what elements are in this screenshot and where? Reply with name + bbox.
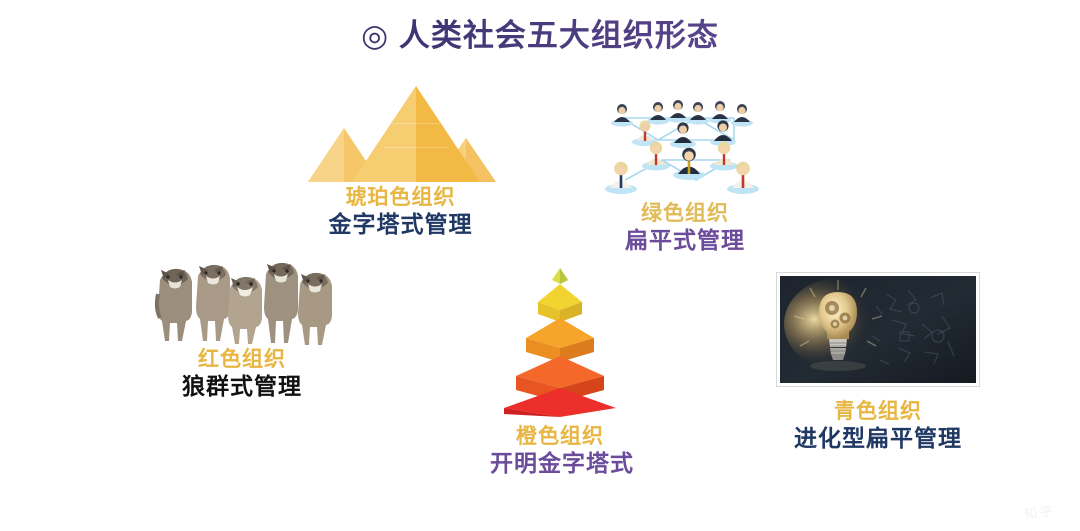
caption-green: 绿色组织 扁平式管理 bbox=[600, 202, 770, 254]
node-amber-organization: 琥珀色组织 金字塔式管理 bbox=[283, 86, 518, 238]
pyramid-seam bbox=[384, 147, 448, 148]
people-network-icon bbox=[600, 88, 770, 196]
pyramid-large-center-shade bbox=[352, 86, 416, 182]
pyramid-seam bbox=[392, 123, 440, 124]
mode-label-green: 扁平式管理 bbox=[600, 227, 770, 254]
lightbulb-gears-icon bbox=[777, 273, 979, 386]
watermark: 知乎 bbox=[1023, 500, 1057, 523]
node-red-organization: 红色组织 狼群式管理 bbox=[147, 254, 337, 400]
caption-orange: 橙色组织 开明金字塔式 bbox=[490, 425, 630, 477]
caption-teal: 青色组织 进化型扁平管理 bbox=[773, 400, 983, 452]
slide-canvas: ◎ 人类社会五大组织形态 琥珀色组织 金字塔式管理 bbox=[0, 0, 1080, 531]
org-label-red: 红色组织 bbox=[147, 348, 337, 373]
node-orange-organization: 橙色组织 开明金字塔式 bbox=[490, 262, 630, 477]
mode-label-red: 狼群式管理 bbox=[147, 373, 337, 400]
caption-amber: 琥珀色组织 金字塔式管理 bbox=[283, 186, 518, 238]
mode-label-teal: 进化型扁平管理 bbox=[773, 425, 983, 452]
wolf-pack-icon bbox=[150, 254, 335, 346]
caption-red: 红色组织 狼群式管理 bbox=[147, 348, 337, 400]
org-label-teal: 青色组织 bbox=[773, 400, 983, 425]
org-label-amber: 琥珀色组织 bbox=[283, 186, 518, 211]
page-title: ◎ 人类社会五大组织形态 bbox=[0, 10, 1080, 55]
pyramid-small-left-shade bbox=[308, 128, 344, 182]
org-label-orange: 橙色组织 bbox=[490, 425, 630, 450]
mode-label-orange: 开明金字塔式 bbox=[490, 450, 630, 477]
mode-label-amber: 金字塔式管理 bbox=[283, 211, 518, 238]
org-label-green: 绿色组织 bbox=[600, 202, 770, 227]
node-green-organization: 绿色组织 扁平式管理 bbox=[600, 88, 770, 254]
pyramids-icon bbox=[306, 86, 496, 182]
node-teal-organization: 青色组织 进化型扁平管理 bbox=[773, 273, 983, 452]
layered-pyramid-icon bbox=[490, 262, 630, 417]
